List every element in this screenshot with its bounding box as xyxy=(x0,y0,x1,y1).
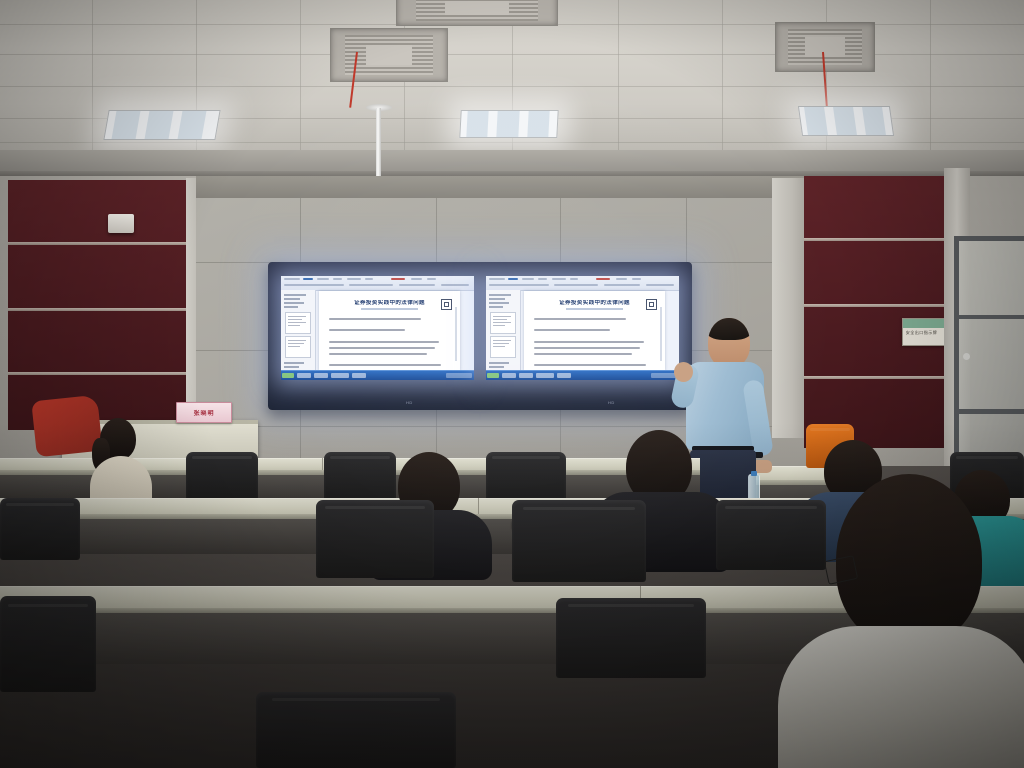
document-scrollbar-left[interactable] xyxy=(455,307,457,361)
chair-middle-2[interactable] xyxy=(316,500,434,578)
windows-taskbar-left[interactable] xyxy=(281,370,474,380)
chair-middle-1[interactable] xyxy=(0,498,80,560)
hvac-diffuser-right xyxy=(775,22,875,72)
document-title-right: 证券投资实践中的法律问题 xyxy=(535,300,653,306)
start-button-right[interactable] xyxy=(487,373,499,378)
display-screen-right[interactable]: 证券投资实践中的法律问题 xyxy=(486,276,679,380)
door-handle[interactable] xyxy=(963,353,970,360)
hvac-diffuser-center-top xyxy=(396,0,558,26)
display-screen-left[interactable]: 证券投资实践中的法律问题 xyxy=(281,276,474,380)
chair-foreground-1[interactable] xyxy=(0,596,96,692)
wall-sign: 安全出口指示牌 xyxy=(902,318,950,346)
foreground-white-tshirt xyxy=(778,626,1024,768)
attendee-white-tshirt-foreground xyxy=(778,474,1024,768)
document-object-box-right xyxy=(646,299,657,310)
document-subtitle-rule-left xyxy=(361,308,417,310)
light-panel-center xyxy=(459,110,558,138)
wall-panel-maroon-right xyxy=(804,176,944,448)
chair-back-1[interactable] xyxy=(186,452,258,504)
word-ribbon-left xyxy=(281,276,474,291)
windows-taskbar-right[interactable] xyxy=(486,370,679,380)
light-panel-left xyxy=(103,110,220,140)
word-document-page-right[interactable]: 证券投资实践中的法律问题 xyxy=(524,291,665,371)
dual-display-wall[interactable]: 证券投资实践中的法律问题 xyxy=(268,262,692,410)
word-ribbon-right xyxy=(486,276,679,291)
chair-back-3[interactable] xyxy=(486,452,566,502)
wall-speaker-icon xyxy=(108,214,134,233)
attendee-front-left-woman xyxy=(82,418,162,508)
display-brand-label: HD xyxy=(406,400,413,405)
system-tray-left[interactable] xyxy=(446,373,472,378)
presenter-left-hand xyxy=(674,362,693,382)
start-button-left[interactable] xyxy=(282,373,294,378)
display-bezel-bottom xyxy=(268,386,692,410)
wall-panel-maroon-left xyxy=(8,180,194,430)
wall-sign-header xyxy=(903,319,949,328)
document-title-left: 证券投资实践中的法律问题 xyxy=(330,300,448,306)
hvac-diffuser-left xyxy=(330,28,448,82)
light-panel-right xyxy=(798,106,894,136)
chair-foreground-2[interactable] xyxy=(256,692,456,768)
chair-middle-3[interactable] xyxy=(512,500,646,582)
ceiling xyxy=(0,0,1024,160)
chair-foreground-3[interactable] xyxy=(556,598,706,678)
presenter-hair xyxy=(708,318,750,340)
name-placard-text: 张晓明 xyxy=(193,408,214,416)
wall-header-band xyxy=(196,176,816,198)
classroom-scene: 安全出口指示牌 xyxy=(0,0,1024,768)
document-subtitle-rule-right xyxy=(566,308,622,310)
document-scrollbar-right[interactable] xyxy=(660,307,662,361)
bottle-cap xyxy=(751,471,757,476)
display-brand-label-2: HD xyxy=(608,400,615,405)
presenter-head xyxy=(708,318,750,368)
document-object-box-left xyxy=(441,299,452,310)
word-navigation-pane-left[interactable] xyxy=(281,290,316,371)
word-navigation-pane-right[interactable] xyxy=(486,290,521,371)
foreground-head xyxy=(836,474,982,646)
wall-sign-text: 安全出口指示牌 xyxy=(906,330,947,335)
name-placard: 张晓明 xyxy=(176,402,232,423)
word-document-page-left[interactable]: 证券投资实践中的法律问题 xyxy=(319,291,460,371)
